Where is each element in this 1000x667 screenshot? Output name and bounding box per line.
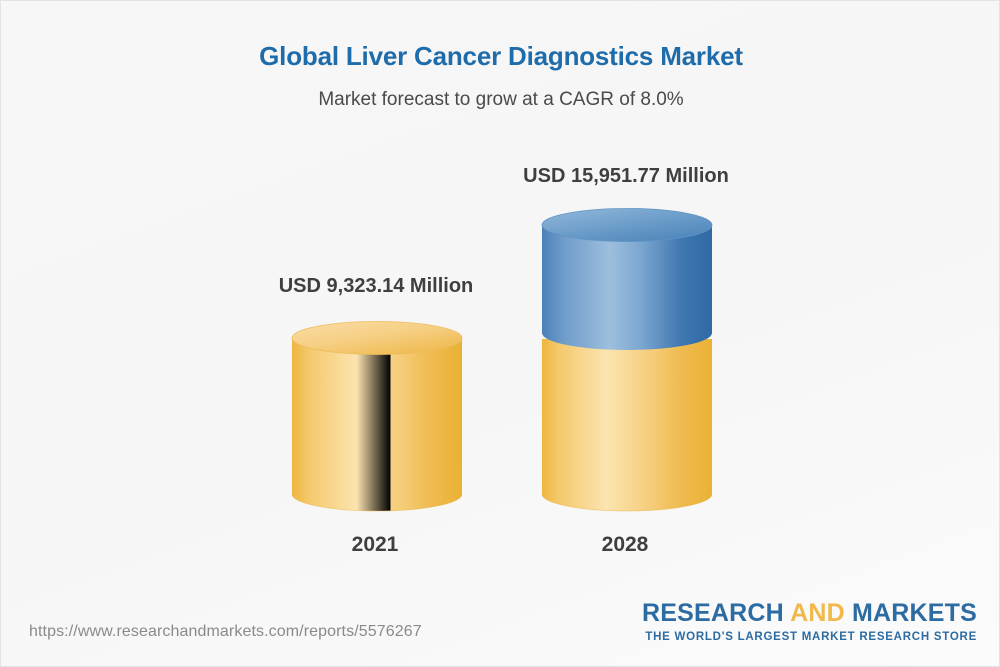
logo-tagline: THE WORLD'S LARGEST MARKET RESEARCH STOR… — [642, 632, 977, 644]
category-label-2021: 2021 — [275, 533, 475, 557]
value-label-2021: USD 9,323.14 Million — [176, 275, 576, 298]
chart-canvas: Global Liver Cancer Diagnostics Market M… — [0, 0, 1000, 667]
report-url[interactable]: https://www.researchandmarkets.com/repor… — [29, 623, 422, 641]
bar-2021[interactable] — [289, 319, 465, 519]
bar-2028[interactable] — [539, 203, 715, 519]
logo-word-markets: MARKETS — [852, 599, 977, 627]
category-label-2028: 2028 — [525, 533, 725, 557]
bar-2021-cylinder — [289, 319, 465, 519]
plot-area: USD 9,323.14 Million USD 15,951.77 Milli… — [1, 1, 1000, 591]
value-label-2028: USD 15,951.77 Million — [426, 165, 826, 188]
research-and-markets-logo[interactable]: RESEARCH AND MARKETS THE WORLD'S LARGEST… — [642, 601, 977, 644]
bar-2028-cylinder — [539, 203, 715, 519]
logo-word-research: RESEARCH — [642, 599, 790, 627]
logo-wordmark: RESEARCH AND MARKETS — [642, 601, 977, 626]
logo-word-and: AND — [790, 599, 852, 627]
